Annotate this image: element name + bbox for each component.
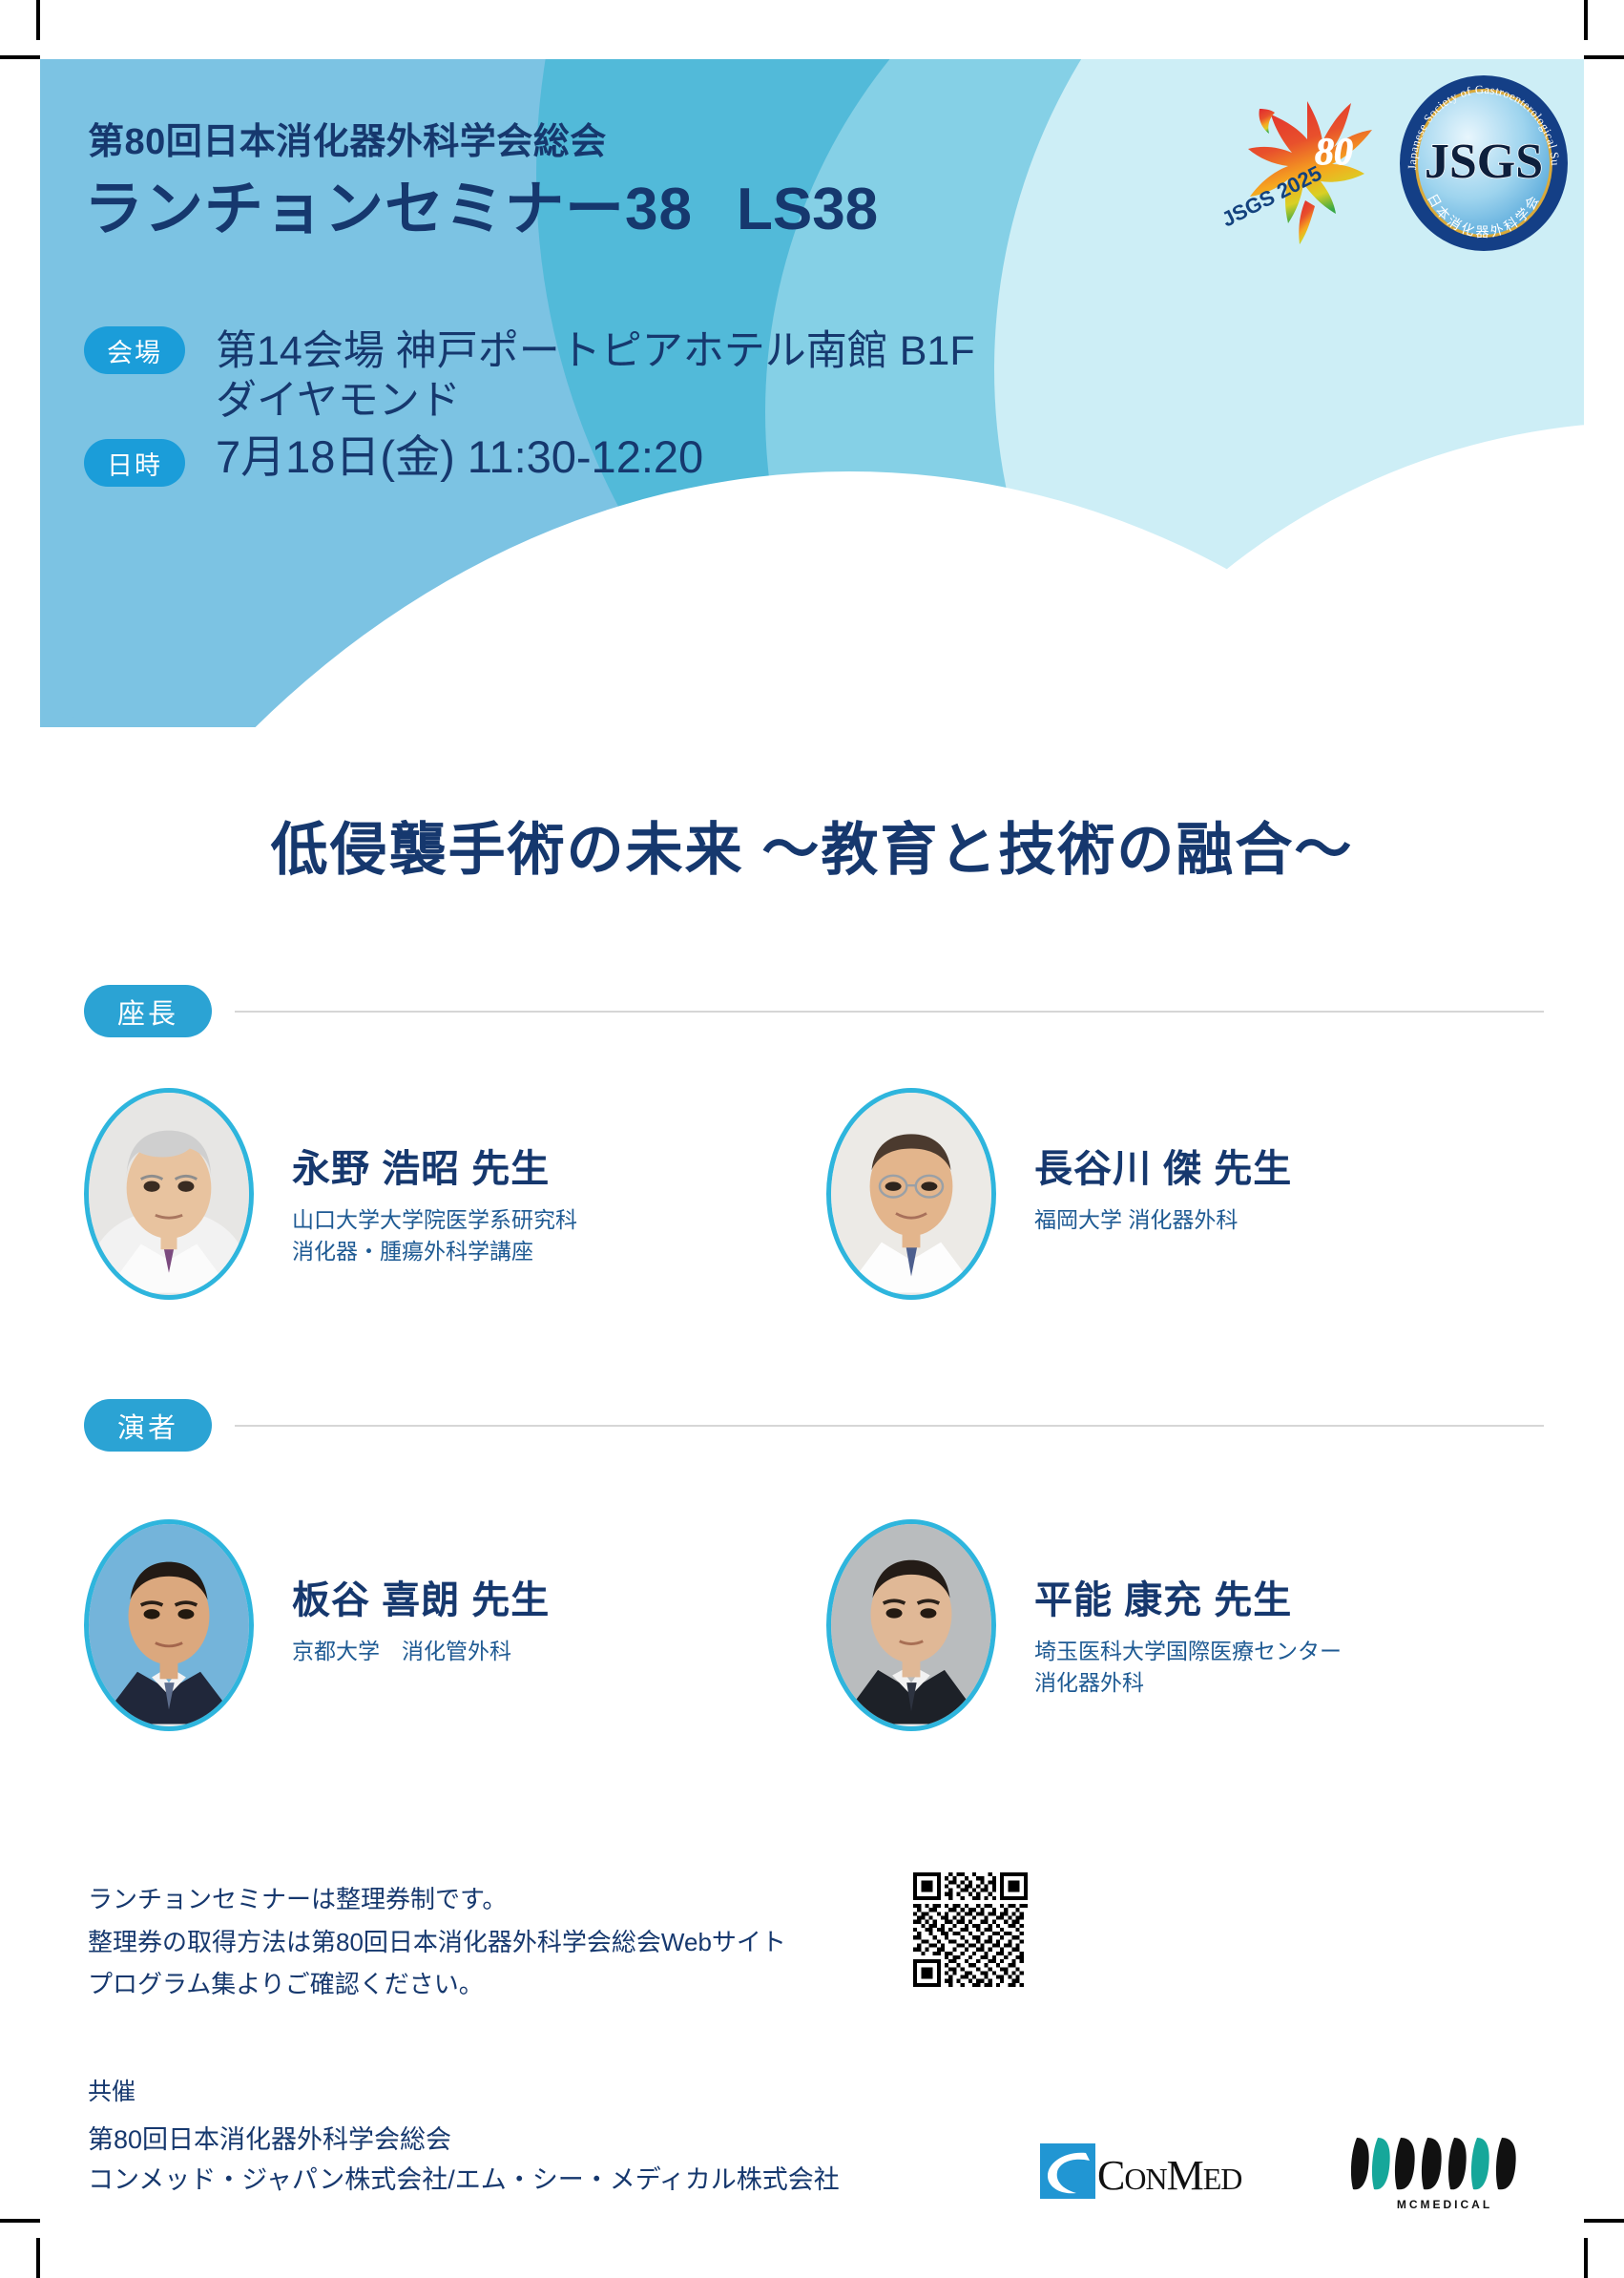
section-label-speakers: 演者 <box>84 1399 1544 1452</box>
jsgs-2025-phoenix-logo: 80 JSGS 2025 <box>1216 86 1397 258</box>
speaker-1-avatar <box>84 1519 254 1731</box>
speaker-2-avatar <box>826 1519 996 1731</box>
speaker-card-2: 平能 康充 先生 埼玉医科大学国際医療センター 消化器外科 <box>826 1519 1342 1731</box>
date-label-badge: 日時 <box>84 439 185 487</box>
mcmedical-wordmark: MCMEDICAL <box>1397 2198 1492 2211</box>
chair-1-avatar <box>84 1088 254 1300</box>
speaker-2-name: 平能 康充 先生 <box>1034 1569 1342 1624</box>
speaker-1-affiliation: 京都大学 消化管外科 <box>292 1636 550 1667</box>
crop-mark-bottom-right-v <box>1584 2238 1588 2278</box>
crop-mark-top-left-h <box>0 55 40 59</box>
crop-mark-bottom-left-h <box>0 2219 40 2223</box>
ticket-notes: ランチョンセミナーは整理券制です。 整理券の取得方法は第80回日本消化器外科学会… <box>88 1878 786 2006</box>
crop-mark-top-right-h <box>1584 55 1624 59</box>
conmed-logo: CONMED <box>1040 2142 1317 2201</box>
seminar-title-row: ランチョンセミナー38LS38 <box>84 160 878 246</box>
crop-mark-top-left-v <box>36 0 40 40</box>
crop-mark-bottom-right-h <box>1584 2219 1624 2223</box>
sponsor-lines: 第80回日本消化器外科学会総会 コンメッド・ジャパン株式会社/エム・シー・メディ… <box>88 2121 840 2201</box>
chairs-badge: 座長 <box>84 985 212 1037</box>
date-text: 7月18日(金) 11:30-12:20 <box>216 429 703 484</box>
speakers-badge: 演者 <box>84 1399 212 1452</box>
venue-row: 会場 第14会場 神戸ポートピアホテル南館 B1F ダイヤモンド <box>84 326 975 427</box>
qr-code <box>913 1872 1028 1987</box>
crop-mark-bottom-left-v <box>36 2238 40 2278</box>
phoenix-number: 80 <box>1315 130 1353 173</box>
chair-1-name: 永野 浩昭 先生 <box>292 1138 577 1193</box>
seminar-code: LS38 <box>737 177 878 242</box>
chair-1-affiliation: 山口大学大学院医学系研究科 消化器・腫瘍外科学講座 <box>292 1204 577 1266</box>
mcmedical-logo: MCMEDICAL <box>1351 2130 1538 2212</box>
chair-2-name: 長谷川 傑 先生 <box>1034 1138 1292 1193</box>
venue-text: 第14会場 神戸ポートピアホテル南館 B1F ダイヤモンド <box>216 326 975 427</box>
venue-label-badge: 会場 <box>84 326 185 374</box>
jsgs-society-seal: The Japanese Society of Gastroenterologi… <box>1393 73 1574 254</box>
chair-2-avatar <box>826 1088 996 1300</box>
seminar-title: ランチョンセミナー38 <box>84 177 693 242</box>
conference-name: 第80回日本消化器外科学会総会 <box>88 112 607 164</box>
poster-header: 第80回日本消化器外科学会総会 ランチョンセミナー38LS38 会場 第14会場… <box>40 59 1584 727</box>
chairs-divider <box>235 1011 1544 1013</box>
svg-text:CONMED: CONMED <box>1097 2152 1241 2199</box>
main-title: 低侵襲手術の未来 〜教育と技術の融合〜 <box>0 804 1624 887</box>
section-label-chairs: 座長 <box>84 985 1544 1037</box>
date-row: 日時 7月18日(金) 11:30-12:20 <box>84 429 703 487</box>
chair-2-affiliation: 福岡大学 消化器外科 <box>1034 1204 1292 1236</box>
speakers-divider <box>235 1425 1544 1427</box>
chair-card-2: 長谷川 傑 先生 福岡大学 消化器外科 <box>826 1088 1292 1300</box>
crop-mark-top-right-v <box>1584 0 1588 40</box>
speaker-1-name: 板谷 喜朗 先生 <box>292 1569 550 1624</box>
sponsor-label: 共催 <box>88 2073 135 2107</box>
speaker-card-1: 板谷 喜朗 先生 京都大学 消化管外科 <box>84 1519 550 1731</box>
chair-card-1: 永野 浩昭 先生 山口大学大学院医学系研究科 消化器・腫瘍外科学講座 <box>84 1088 577 1300</box>
jsgs-acronym: JSGS <box>1425 135 1543 189</box>
speaker-2-affiliation: 埼玉医科大学国際医療センター 消化器外科 <box>1034 1636 1342 1698</box>
